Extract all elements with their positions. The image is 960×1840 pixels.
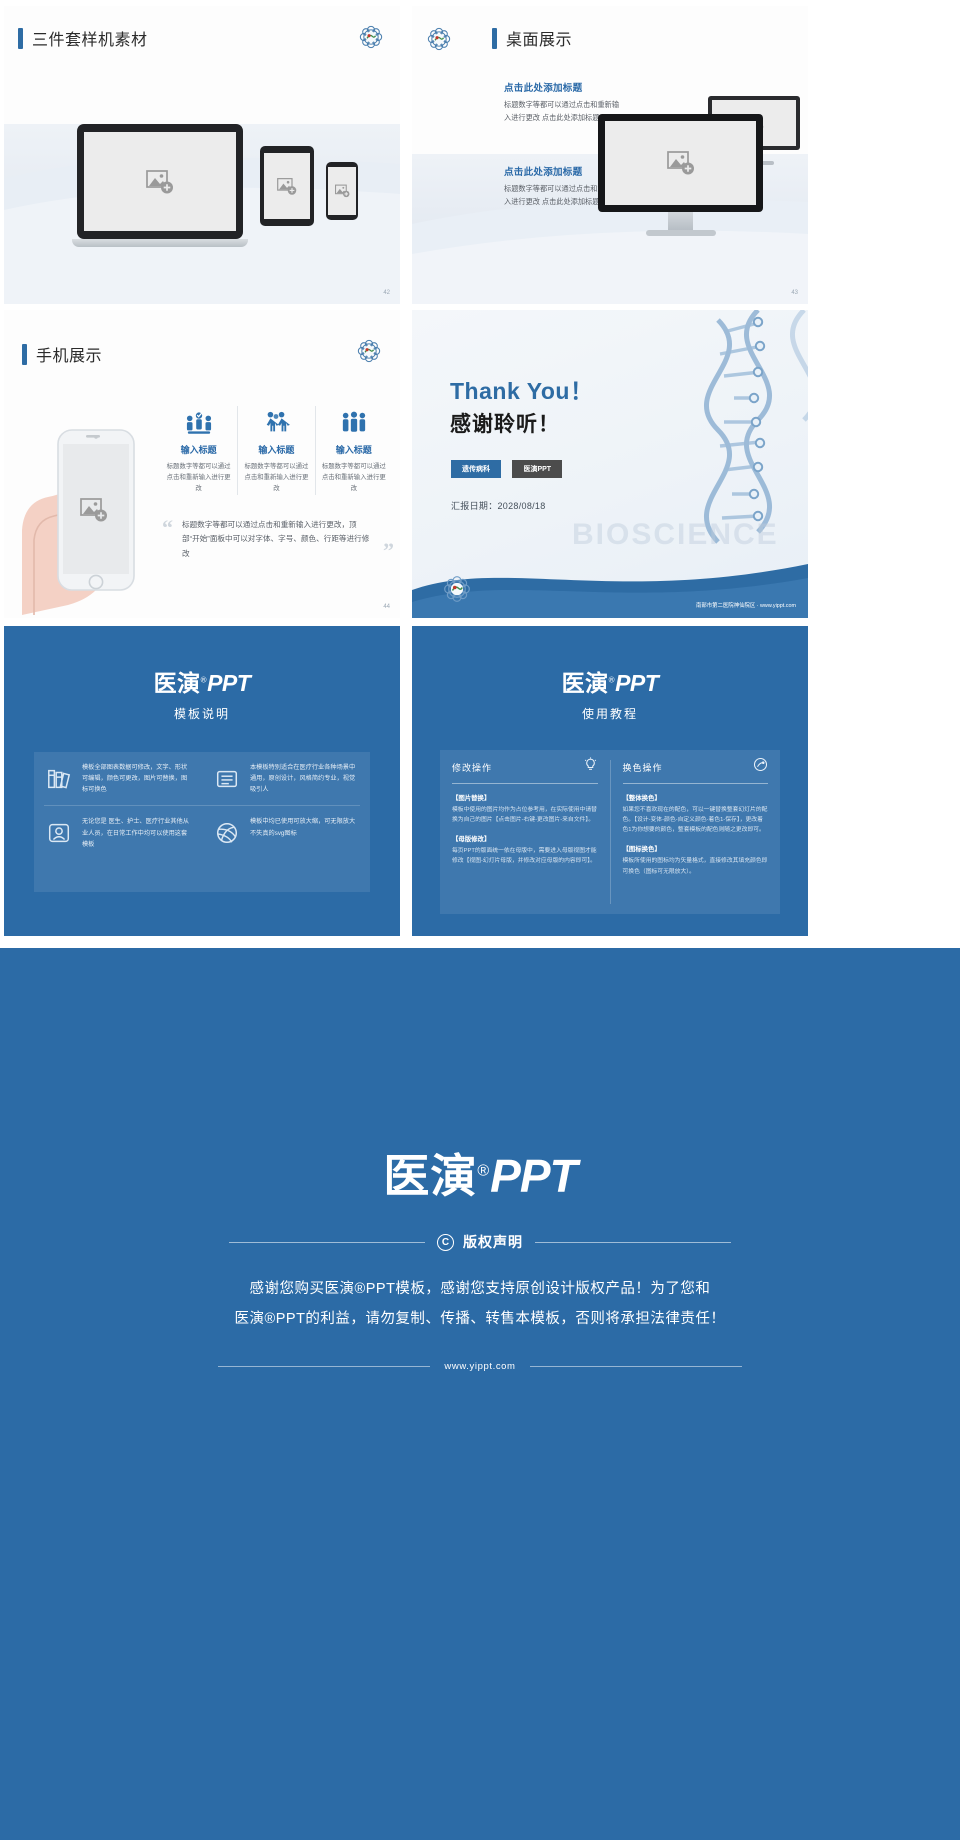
people-three-icon — [320, 406, 388, 436]
feature-column: 输入标题 标题数字等都可以通过点击和重新输入进行更改 — [237, 406, 314, 495]
page-number: 43 — [791, 290, 798, 296]
title-accent-bar — [22, 344, 27, 365]
note-text: 本模板特别适合在医疗行业各种场景中通用，原创设计，风格简约专业，视觉吸引人 — [250, 762, 360, 795]
laptop-base — [72, 239, 248, 247]
slide-desktop-display: 桌面展示 点击此处添加标题 标题数字等都可以通过点击和重新输入进行更改 点击此处… — [412, 6, 808, 304]
column-body: 标题数字等都可以通过点击和重新输入进行更改 — [320, 461, 388, 495]
slide-phone-display: 手机展示 — [4, 310, 400, 618]
title-text: 手机展示 — [36, 342, 102, 366]
divider-left — [229, 1242, 425, 1243]
title-accent-bar — [492, 28, 497, 49]
thankyou-title-en: Thank You！ — [450, 372, 593, 406]
brand-main: 医演 — [562, 670, 609, 696]
title-text: 三件套样机素材 — [32, 26, 148, 50]
guide-column-color: 换色操作 【整体换色】 如果您不喜欢现在的配色，可以一键替换整套幻灯片的配色。【… — [611, 750, 781, 914]
notes-card: 模板全部图表数据可修改，文字、形状可编辑，颜色可更改，图片可替换，图标可换色 本… — [34, 752, 370, 892]
image-placeholder-icon — [277, 177, 297, 196]
brand-lockup: 医演®PPT 使用教程 — [412, 664, 808, 722]
guide-block-title: 【图片替换】 — [452, 793, 598, 802]
footer-brand-ppt: PPT — [490, 1150, 576, 1202]
feature-column: 输入标题 标题数字等都可以通过点击和重新输入进行更改 — [315, 406, 392, 495]
slide-copyright: 医演®PPT C 版权声明 感谢您购买医演®PPT模板，感谢您支持原创设计版权产… — [0, 948, 960, 1840]
page-number: 42 — [383, 290, 390, 296]
title-text: 桌面展示 — [506, 26, 572, 50]
guide-heading: 换色操作 — [623, 761, 663, 774]
block-heading: 点击此处添加标题 — [504, 80, 624, 94]
copyright-paragraph: 感谢您购买医演®PPT模板，感谢您支持原创设计版权产品！为了您和 医演®PPT的… — [0, 1274, 960, 1335]
report-date: 汇报日期：2028/08/18 — [451, 499, 546, 512]
notes-row: 无论您是 医生、护士、医疗行业其他从业人员，在日常工作中均可以使用这套模板 模板… — [34, 806, 370, 859]
quote-text: 标题数字等都可以通过点击和重新输入进行更改，顶部“开始”面板中可以对字体、字号、… — [182, 518, 374, 561]
guide-block-title: 【母版修改】 — [452, 834, 598, 843]
note-cell: 模板全部图表数据可修改，文字、形状可编辑，颜色可更改，图片可替换，图标可换色 — [34, 752, 202, 805]
footer-brand-main: 医演 — [383, 1150, 477, 1202]
slide-thank-you: Thank You！ 感谢聆听！ 遗传病科 医演PPT 汇报日期：2028/08… — [412, 310, 808, 618]
tablet-mockup — [260, 146, 314, 226]
brand-logo: 医演®PPT — [412, 664, 808, 698]
dribbble-icon — [212, 816, 242, 849]
thankyou-heading: Thank You！ 感谢聆听！ — [450, 372, 593, 438]
quote-close-icon: ” — [383, 541, 394, 561]
divider-right — [530, 1366, 742, 1367]
copyright-line-2: 医演®PPT的利益，请勿复制、传播、转售本模板，否则将承担法律责任！ — [0, 1304, 960, 1334]
image-placeholder-icon — [667, 150, 695, 176]
quote-open-icon: “ — [162, 518, 173, 561]
guide-column-header: 换色操作 — [623, 757, 769, 784]
hospital-emblem-icon — [356, 338, 382, 364]
footer-brand-sup: ® — [477, 1163, 490, 1180]
page-number: 44 — [383, 604, 390, 610]
laptop-mockup — [72, 124, 248, 249]
hospital-emblem-icon — [426, 26, 452, 52]
feature-column: 输入标题 标题数字等都可以通过点击和重新输入进行更改 — [160, 406, 237, 495]
tag-brand[interactable]: 医演PPT — [512, 460, 562, 478]
note-cell: 模板中均已使用可放大缩，可无限放大不失真的svg图标 — [202, 806, 370, 859]
phone-screen — [328, 167, 356, 215]
doctor-icon — [44, 816, 74, 849]
divider-left — [218, 1366, 430, 1367]
books-icon — [44, 762, 74, 795]
phone-mockup — [326, 162, 358, 220]
guide-block: 【图片替换】 模板中使用的图片均作为占位参考用，在实际使用中请替换为自己的图片【… — [452, 793, 598, 825]
hospital-emblem-icon — [442, 574, 472, 604]
primary-monitor-screen — [605, 121, 756, 205]
brand-logo: 医演®PPT — [4, 664, 400, 698]
note-text: 无论您是 医生、护士、医疗行业其他从业人员，在日常工作中均可以使用这套模板 — [82, 816, 192, 849]
slide-footer-text: 南部市第二医院神仙院区 · www.yippt.com — [696, 601, 796, 609]
guide-block: 【整体换色】 如果您不喜欢现在的配色，可以一键替换整套幻灯片的配色。【设计-变体… — [623, 793, 769, 835]
guide-block-title: 【整体换色】 — [623, 793, 769, 802]
tag-row: 遗传病科 医演PPT — [451, 458, 569, 478]
guide-block-title: 【图标换色】 — [623, 844, 769, 853]
hospital-emblem-icon — [358, 24, 384, 50]
column-heading: 输入标题 — [242, 443, 310, 456]
palette-icon — [753, 757, 768, 777]
website-divider-row: www.yippt.com — [0, 1361, 960, 1372]
page-title: 桌面展示 — [492, 26, 572, 50]
tablet-screen — [264, 153, 310, 219]
title-accent-bar — [18, 28, 23, 49]
copyright-divider-row: C 版权声明 — [0, 1232, 960, 1252]
layers-icon — [212, 762, 242, 795]
slide-mockup-trio: 三件套样机素材 — [4, 6, 400, 304]
primary-monitor-mockup — [598, 114, 763, 244]
guide-block-body: 每页PPT的版面统一依在母版中，需要进入母版视图才能修改【视图-幻灯片母版，并修… — [452, 846, 598, 866]
page-title: 三件套样机素材 — [18, 26, 148, 50]
notes-row: 模板全部图表数据可修改，文字、形状可编辑，颜色可更改，图片可替换，图标可换色 本… — [34, 752, 370, 805]
note-text: 模板中均已使用可放大缩，可无限放大不失真的svg图标 — [250, 816, 360, 849]
guide-block-body: 模板所使用的图标均为矢量格式，直接修改其填充颜色即可换色（图标可无限放大）。 — [623, 856, 769, 876]
guide-card: 修改操作 【图片替换】 模板中使用的图片均作为占位参考用，在实际使用中请替换为自… — [440, 750, 780, 914]
guide-heading: 修改操作 — [452, 761, 492, 774]
column-body: 标题数字等都可以通过点击和重新输入进行更改 — [164, 461, 233, 495]
slide-template-notes: 医演®PPT 模板说明 模板全部图表数据可修改，文字、形状可编辑，颜色可更改，图… — [4, 626, 400, 936]
hand-holding-phone-mockup — [12, 380, 162, 615]
copyright-icon: C — [437, 1234, 454, 1251]
thankyou-title-cn: 感谢聆听！ — [450, 408, 593, 438]
guide-block: 【母版修改】 每页PPT的版面统一依在母版中，需要进入母版视图才能修改【视图-幻… — [452, 834, 598, 866]
brand-ppt: PPT — [615, 670, 658, 696]
lightbulb-icon — [583, 757, 598, 777]
column-heading: 输入标题 — [320, 443, 388, 456]
column-heading: 输入标题 — [164, 443, 233, 456]
website-url[interactable]: www.yippt.com — [444, 1361, 515, 1372]
divider-right — [535, 1242, 731, 1243]
note-cell: 本模板特别适合在医疗行业各种场景中通用，原创设计，风格简约专业，视觉吸引人 — [202, 752, 370, 805]
feature-columns: 输入标题 标题数字等都可以通过点击和重新输入进行更改 输入标题 标题数字等都可以… — [160, 406, 392, 495]
brand-lockup: 医演®PPT 模板说明 — [4, 664, 400, 722]
guide-column-header: 修改操作 — [452, 757, 598, 784]
brand-main: 医演 — [154, 670, 201, 696]
copyright-label: 版权声明 — [463, 1232, 523, 1252]
column-body: 标题数字等都可以通过点击和重新输入进行更改 — [242, 461, 310, 495]
image-placeholder-icon — [335, 184, 350, 198]
guide-block-body: 如果您不喜欢现在的配色，可以一键替换整套幻灯片的配色。【设计-变体-颜色-自定义… — [623, 805, 769, 835]
tag-department[interactable]: 遗传病科 — [451, 460, 501, 478]
page-title: 手机展示 — [22, 342, 102, 366]
guide-block-body: 模板中使用的图片均作为占位参考用，在实际使用中请替换为自己的图片【点击图片-右键… — [452, 805, 598, 825]
slide-usage-guide: 医演®PPT 使用教程 修改操作 — [412, 626, 808, 936]
people-check-icon — [164, 406, 233, 436]
image-placeholder-icon — [146, 169, 174, 195]
copyright-line-1: 感谢您购买医演®PPT模板，感谢您支持原创设计版权产品！为了您和 — [0, 1274, 960, 1304]
people-group-icon — [242, 406, 310, 436]
note-text: 模板全部图表数据可修改，文字、形状可编辑，颜色可更改，图片可替换，图标可换色 — [82, 762, 192, 795]
footer-brand-logo: 医演®PPT — [0, 948, 960, 1206]
guide-column-edit: 修改操作 【图片替换】 模板中使用的图片均作为占位参考用，在实际使用中请替换为自… — [440, 750, 610, 914]
brand-ppt: PPT — [207, 670, 250, 696]
note-cell: 无论您是 医生、护士、医疗行业其他从业人员，在日常工作中均可以使用这套模板 — [34, 806, 202, 859]
copyright-block: C 版权声明 — [437, 1232, 523, 1252]
laptop-screen — [84, 132, 236, 231]
guide-block: 【图标换色】 模板所使用的图标均为矢量格式，直接修改其填充颜色即可换色（图标可无… — [623, 844, 769, 876]
brand-subtitle: 使用教程 — [412, 705, 808, 722]
brand-subtitle: 模板说明 — [4, 705, 400, 722]
quote-block: “ 标题数字等都可以通过点击和重新输入进行更改，顶部“开始”面板中可以对字体、字… — [162, 518, 394, 561]
